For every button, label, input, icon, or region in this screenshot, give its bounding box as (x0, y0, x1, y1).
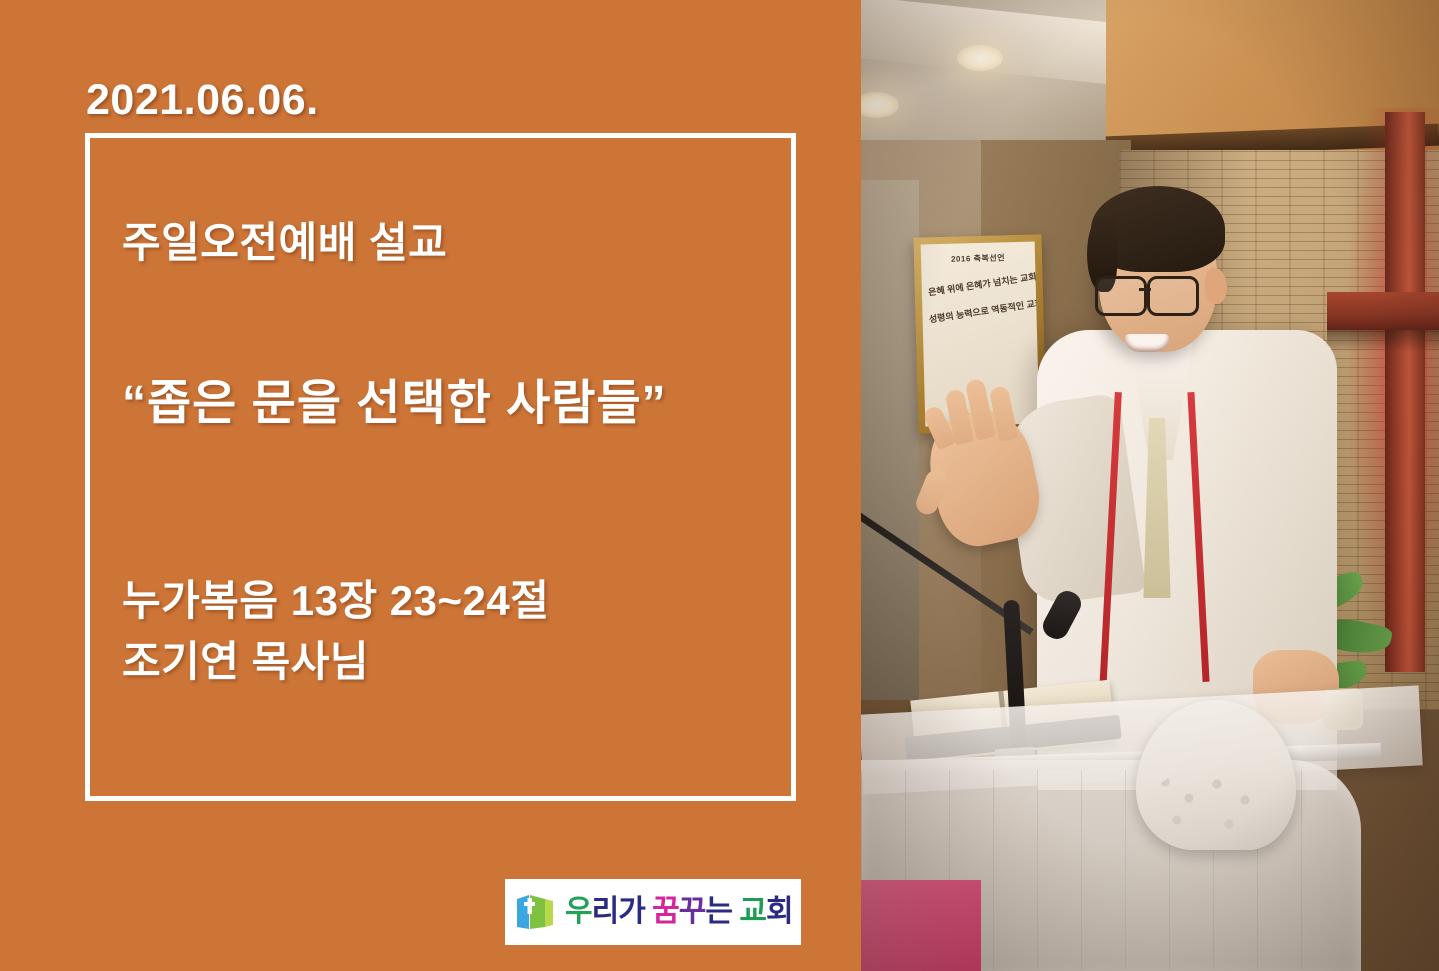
cloth-lace-detail (1153, 770, 1283, 840)
pastor-mouth (1125, 334, 1169, 352)
logo-part-4: 꾸 (679, 895, 706, 928)
plaque-line-1: 은혜 위에 은혜가 넘치는 교회 (927, 271, 1030, 299)
text-frame-border: 주일오전예배 설교 “좁은 문을 선택한 사람들” 누가복음 13장 23~24… (85, 133, 796, 801)
left-text-panel: 2021.06.06. 주일오전예배 설교 “좁은 문을 선택한 사람들” 누가… (0, 0, 861, 971)
preacher-name: 조기연 목사님 (122, 632, 791, 693)
pastor-ear (1205, 268, 1227, 304)
pastor-glasses (1095, 276, 1207, 310)
scripture-reference: 누가복음 13장 23~24절 (122, 571, 791, 632)
church-logo-text: 우리가 꿈꾸는 교회 (565, 897, 793, 927)
plaque-heading: 2016 축복선언 (927, 252, 1029, 266)
pastor-photo: 2016 축복선언 은혜 위에 은혜가 넘치는 교회 성령의 능력으로 역동적인… (861, 0, 1439, 971)
logo-part-7: 회 (766, 895, 793, 928)
glasses-lens-right (1147, 276, 1199, 316)
logo-part-1: 우 (565, 895, 592, 928)
service-date: 2021.06.06. (86, 76, 319, 125)
logo-part-6: 교 (739, 895, 766, 928)
logo-part-3: 꿈 (652, 895, 679, 928)
sermon-title: “좁은 문을 선택한 사람들” (122, 378, 791, 431)
text-frame-content: 주일오전예배 설교 “좁은 문을 선택한 사람들” 누가복음 13장 23~24… (90, 138, 791, 796)
door-cross-icon (515, 891, 557, 933)
scripture-block: 누가복음 13장 23~24절 조기연 목사님 (122, 571, 791, 693)
plaque-line-2: 성령의 능력으로 역동적인 교회 (928, 298, 1031, 326)
wooden-cross-shadow (1327, 330, 1439, 352)
church-logo: 우리가 꿈꾸는 교회 (505, 879, 801, 945)
logo-part-2: 리가 (592, 895, 645, 928)
sermon-announcement-slide: 2021.06.06. 주일오전예배 설교 “좁은 문을 선택한 사람들” 누가… (0, 0, 1439, 971)
pink-seat-cushion (861, 880, 981, 971)
ceiling-downlight (957, 45, 1003, 71)
logo-part-5: 는 (705, 895, 732, 928)
wooden-cross-horizontal (1327, 292, 1439, 330)
glasses-lens-left (1095, 276, 1147, 316)
service-title: 주일오전예배 설교 (122, 220, 791, 266)
marble-column (861, 180, 919, 700)
